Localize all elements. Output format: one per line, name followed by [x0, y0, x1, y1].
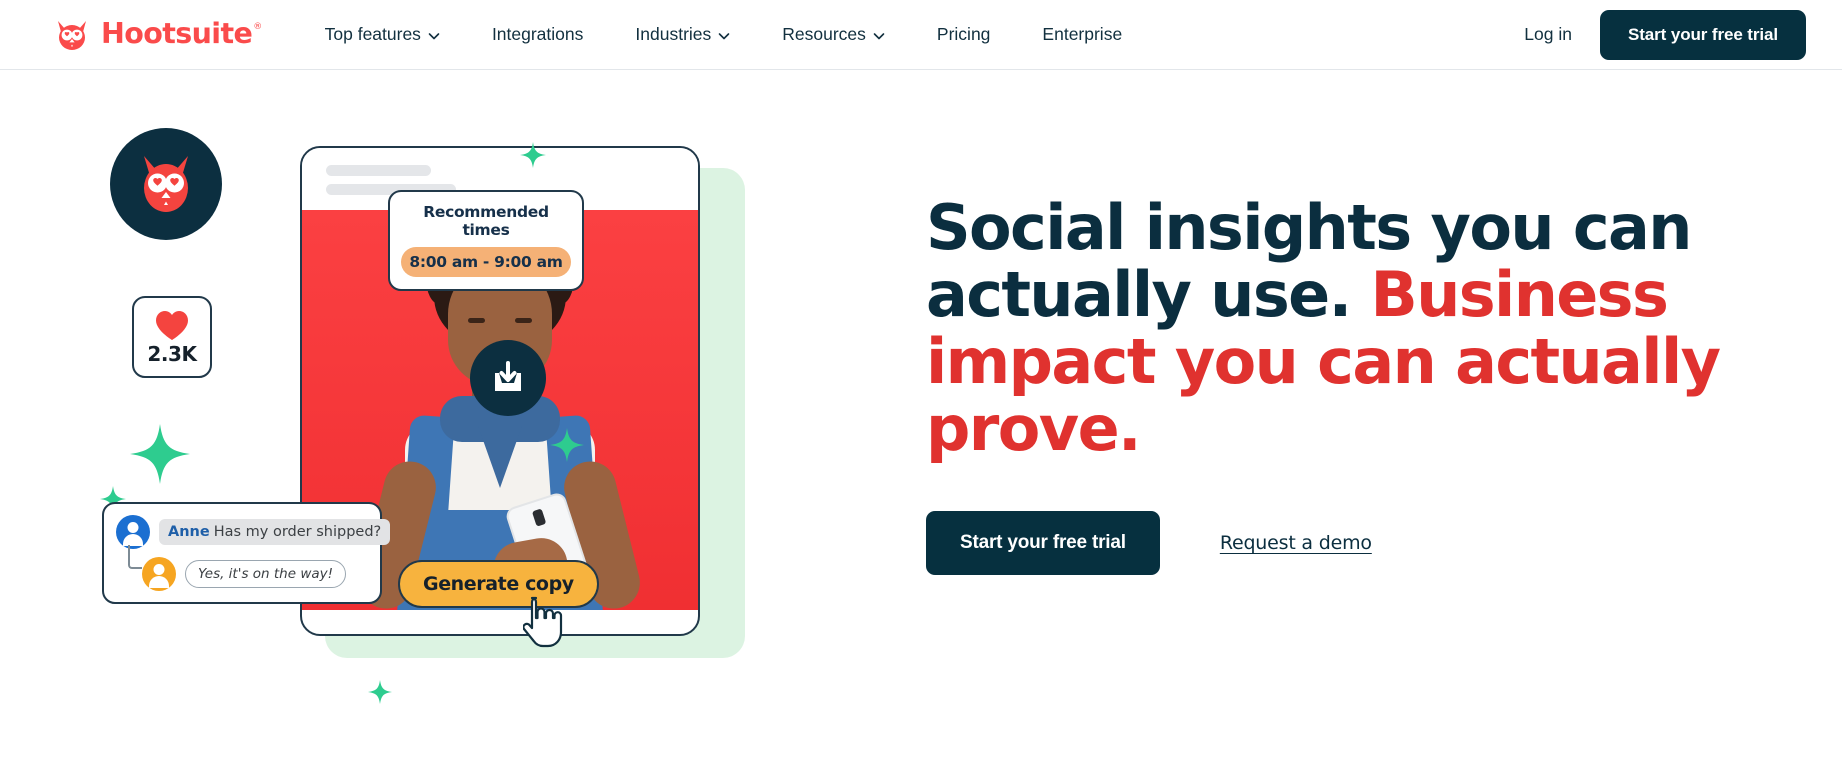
recommended-times-card: Recommended times 8:00 am - 9:00 am	[388, 190, 584, 291]
nav-item-enterprise[interactable]: Enterprise	[1016, 16, 1148, 53]
chat-message-text: Has my order shipped?	[214, 524, 382, 540]
chat-sender-name: Anne	[168, 524, 210, 540]
nav-label: Pricing	[937, 24, 991, 45]
hero-copy: Social insights you can actually use. Bu…	[926, 195, 1726, 575]
heart-icon	[154, 309, 190, 341]
chevron-down-icon	[718, 30, 730, 42]
hero-section: 2.3K Recommended times 8:00 am - 9:00 am…	[0, 70, 1842, 766]
nav-item-industries[interactable]: Industries	[609, 16, 756, 53]
chat-reply-bubble: Yes, it's on the way!	[185, 560, 346, 588]
chevron-down-icon	[428, 30, 440, 42]
avatar-agent	[142, 557, 176, 591]
nav-label: Enterprise	[1042, 24, 1122, 45]
chat-message-reply: Yes, it's on the way!	[116, 557, 368, 591]
nav-item-pricing[interactable]: Pricing	[911, 16, 1017, 53]
start-free-trial-button-nav[interactable]: Start your free trial	[1600, 10, 1806, 60]
owl-avatar-icon	[133, 154, 199, 214]
brand-wordmark: Hootsuite®	[101, 20, 261, 49]
likes-count: 2.3K	[147, 342, 196, 366]
chevron-down-icon	[873, 30, 885, 42]
request-demo-link[interactable]: Request a demo	[1220, 532, 1372, 554]
person-eye-left	[468, 318, 485, 323]
sparkle-icon	[130, 424, 190, 484]
recommended-times-title: Recommended times	[401, 203, 571, 239]
chat-preview-card: AnneHas my order shipped? Yes, it's on t…	[102, 502, 382, 604]
likes-card: 2.3K	[132, 296, 212, 378]
sparkle-icon	[550, 428, 584, 462]
nav-label: Top features	[325, 24, 421, 45]
recommended-time-pill: 8:00 am - 9:00 am	[401, 247, 571, 277]
nav-item-resources[interactable]: Resources	[756, 16, 911, 53]
nav-actions: Log in Start your free trial	[1496, 10, 1806, 60]
hootsuite-logo[interactable]: Hootsuite®	[52, 20, 261, 50]
nav-item-top-features[interactable]: Top features	[299, 16, 466, 53]
login-link[interactable]: Log in	[1496, 14, 1600, 55]
primary-nav: Top features Integrations Industries Res…	[299, 16, 1149, 53]
nav-label: Resources	[782, 24, 866, 45]
page-title: Social insights you can actually use. Bu…	[926, 195, 1726, 463]
sparkle-icon	[368, 680, 392, 704]
nav-item-integrations[interactable]: Integrations	[466, 16, 609, 53]
sparkle-icon	[520, 142, 546, 168]
nav-label: Industries	[635, 24, 711, 45]
hero-cta-row: Start your free trial Request a demo	[926, 511, 1726, 575]
pointing-hand-cursor-icon	[523, 596, 565, 648]
download-inbox-icon	[489, 359, 527, 397]
placeholder-bar	[326, 165, 431, 176]
owl-avatar-badge	[110, 128, 222, 240]
generate-copy-button[interactable]: Generate copy	[398, 560, 599, 608]
top-navigation-bar: Hootsuite® Top features Integrations Ind…	[0, 0, 1842, 70]
hero-illustration: 2.3K Recommended times 8:00 am - 9:00 am…	[110, 128, 870, 728]
start-free-trial-button-hero[interactable]: Start your free trial	[926, 511, 1160, 575]
avatar-anne	[116, 515, 150, 549]
chat-incoming-bubble: AnneHas my order shipped?	[159, 519, 390, 545]
owl-logo-icon	[52, 20, 92, 50]
person-eye-right	[515, 318, 532, 323]
trademark-mark: ®	[253, 22, 261, 32]
nav-label: Integrations	[492, 24, 583, 45]
chat-message-incoming: AnneHas my order shipped?	[116, 515, 368, 549]
download-badge[interactable]	[470, 340, 546, 416]
